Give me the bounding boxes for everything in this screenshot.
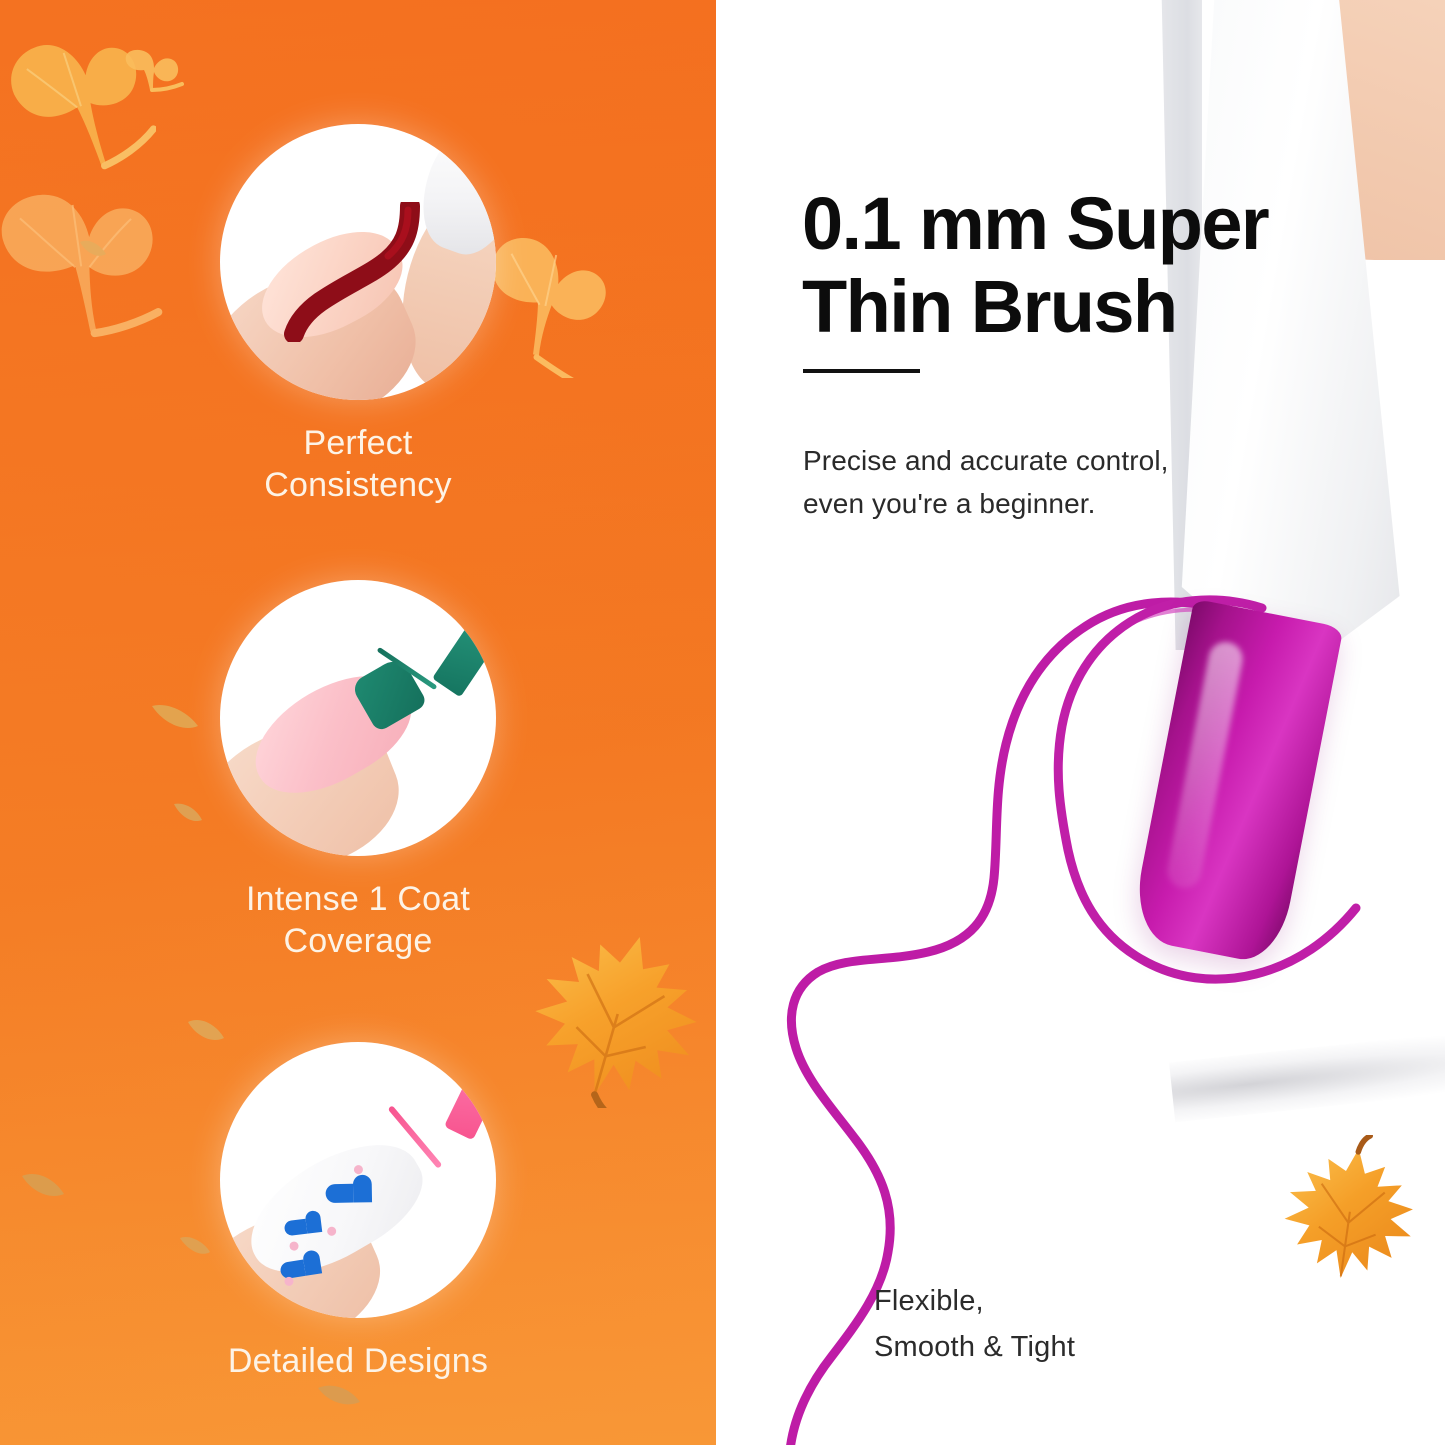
feature-label-line1: Perfect [148,422,568,464]
confetti-flake [178,1234,212,1263]
confetti-flake [316,1380,362,1415]
title-divider-rule [803,369,920,373]
dot-motif [326,1225,338,1237]
subcopy-line1: Precise and accurate control, [803,445,1169,476]
footnote-text: Flexible, Smooth & Tight [874,1279,1075,1371]
confetti-flake [20,1170,66,1205]
feature-card-intense-coverage: Intense 1 Coat Coverage [220,580,568,962]
headline-line1: 0.1 mm Super [802,182,1268,265]
feature-label-line2: Coverage [148,920,568,962]
dot-motif [288,1240,300,1252]
ginkgo-leaf-icon [6,18,156,188]
feature-label-detailed-designs: Detailed Designs [148,1340,568,1382]
feature-label-line1: Intense 1 Coat [148,878,568,920]
confetti-flake [148,700,202,739]
left-feature-panel: Perfect Consistency Intense 1 Coat Cover… [0,0,716,1445]
footnote-line1: Flexible, [874,1285,984,1317]
subcopy-text: Precise and accurate control, even you'r… [803,440,1323,525]
feature-label-line1: Detailed Designs [148,1340,568,1382]
product-feature-graphic: Perfect Consistency Intense 1 Coat Cover… [0,0,1445,1445]
right-hero-panel: 0.1 mm Super Thin Brush Precise and accu… [716,0,1445,1445]
confetti-flake [78,238,108,265]
maple-leaf-icon [1272,1135,1428,1292]
ginkgo-leaf-pale-icon [0,182,174,362]
feature-photo-detailed-designs [220,1042,496,1318]
feature-label-line2: Consistency [148,464,568,506]
headline-line2: Thin Brush [802,265,1177,348]
subcopy-line2: even you're a beginner. [803,488,1096,519]
feature-label-perfect-consistency: Perfect Consistency [148,422,568,506]
footnote-line2: Smooth & Tight [874,1331,1075,1363]
feature-photo-perfect-consistency [220,124,496,400]
page-title: 0.1 mm Super Thin Brush [802,182,1422,349]
brush-handle-teal [432,599,496,698]
feature-photo-intense-coverage [220,580,496,856]
feature-card-detailed-designs: Detailed Designs [220,1042,568,1382]
confetti-flake [172,800,204,831]
brush-handle-pink [444,1046,496,1141]
feature-label-intense-coverage: Intense 1 Coat Coverage [148,878,568,962]
feature-card-perfect-consistency: Perfect Consistency [220,124,568,506]
ginkgo-leaf-small-icon [120,48,184,98]
